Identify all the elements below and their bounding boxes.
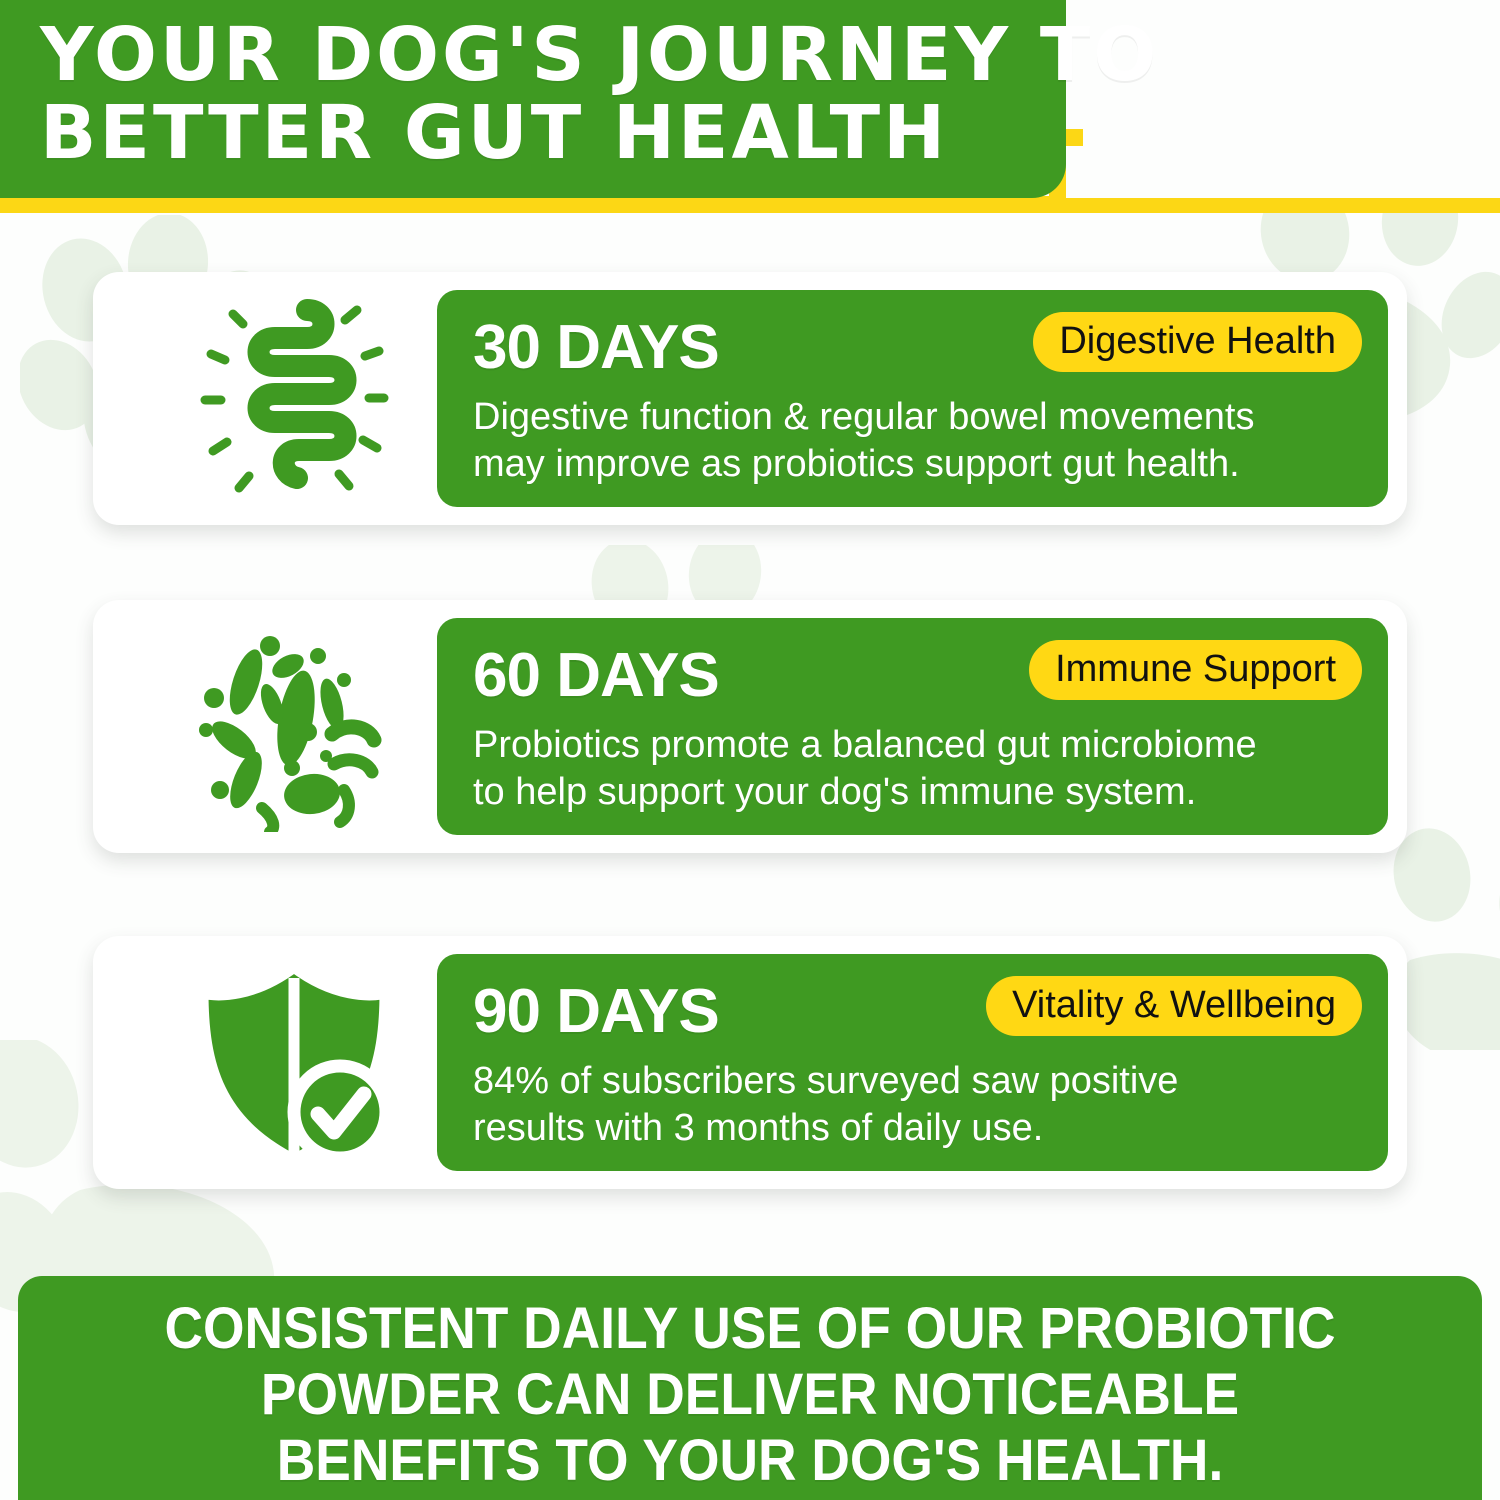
milestone-panel: 30 DAYS Digestive Health Digestive funct… [437,290,1388,507]
header-accent-mask [1066,146,1500,198]
milestone-days: 30 DAYS [473,317,719,379]
milestone-description-line-1: Digestive function & regular bowel movem… [473,394,1362,441]
shield-check-icon [149,958,439,1168]
footer-banner: CONSISTENT DAILY USE OF OUR PROBIOTIC PO… [18,1276,1482,1500]
milestone-card: 90 DAYS Vitality & Wellbeing 84% of subs… [93,936,1407,1189]
status-badge: Immune Support [1029,640,1362,700]
milestone-card: 30 DAYS Digestive Health Digestive funct… [93,272,1407,525]
status-badge: Vitality & Wellbeing [986,976,1362,1036]
milestone-description-line-1: Probiotics promote a balanced gut microb… [473,722,1362,769]
page-title: YOUR DOG'S JOURNEY TO BETTER GUT HEALTH [40,16,1050,172]
milestone-panel: 60 DAYS Immune Support Probiotics promot… [437,618,1388,835]
footer-statement: CONSISTENT DAILY USE OF OUR PROBIOTIC PO… [77,1296,1424,1494]
milestone-description-line-2: to help support your dog's immune system… [473,769,1362,816]
milestone-description: Digestive function & regular bowel movem… [473,394,1362,488]
page-title-line-1: YOUR DOG'S JOURNEY TO [40,16,1050,94]
milestone-card: 60 DAYS Immune Support Probiotics promot… [93,600,1407,853]
milestone-description-line-2: may improve as probiotics support gut he… [473,441,1362,488]
footer-statement-line-1: CONSISTENT DAILY USE OF OUR PROBIOTIC [77,1296,1424,1362]
milestone-days: 90 DAYS [473,981,719,1043]
bacteria-microbiome-icon [149,622,439,832]
milestone-description-line-1: 84% of subscribers surveyed saw positive [473,1058,1362,1105]
paw-print-watermark [1392,820,1500,1050]
milestone-days: 60 DAYS [473,645,719,707]
page-title-line-2: BETTER GUT HEALTH [40,94,1050,172]
footer-statement-line-2: POWDER CAN DELIVER NOTICEABLE [77,1362,1424,1428]
status-badge: Digestive Health [1033,312,1362,372]
intestine-icon [149,294,439,504]
milestone-description: 84% of subscribers surveyed saw positive… [473,1058,1362,1152]
footer-statement-line-3: BENEFITS TO YOUR DOG'S HEALTH. [77,1428,1424,1494]
milestone-description: Probiotics promote a balanced gut microb… [473,722,1362,816]
infographic-canvas: YOUR DOG'S JOURNEY TO BETTER GUT HEALTH [0,0,1500,1500]
milestone-panel: 90 DAYS Vitality & Wellbeing 84% of subs… [437,954,1388,1171]
milestone-description-line-2: results with 3 months of daily use. [473,1105,1362,1152]
